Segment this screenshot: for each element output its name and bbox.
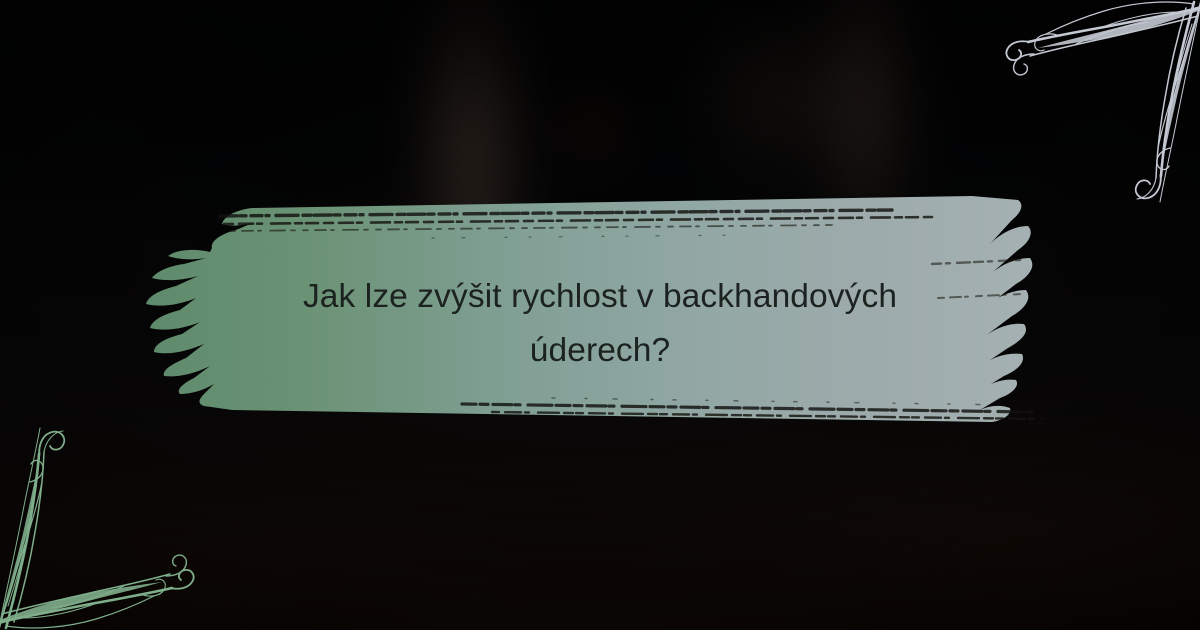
page-title: Jak lze zvýšit rychlost v backhandových … <box>250 270 950 378</box>
headline-banner: Jak lze zvýšit rychlost v backhandových … <box>132 186 1068 438</box>
share-card: Jak lze zvýšit rychlost v backhandových … <box>0 0 1200 630</box>
